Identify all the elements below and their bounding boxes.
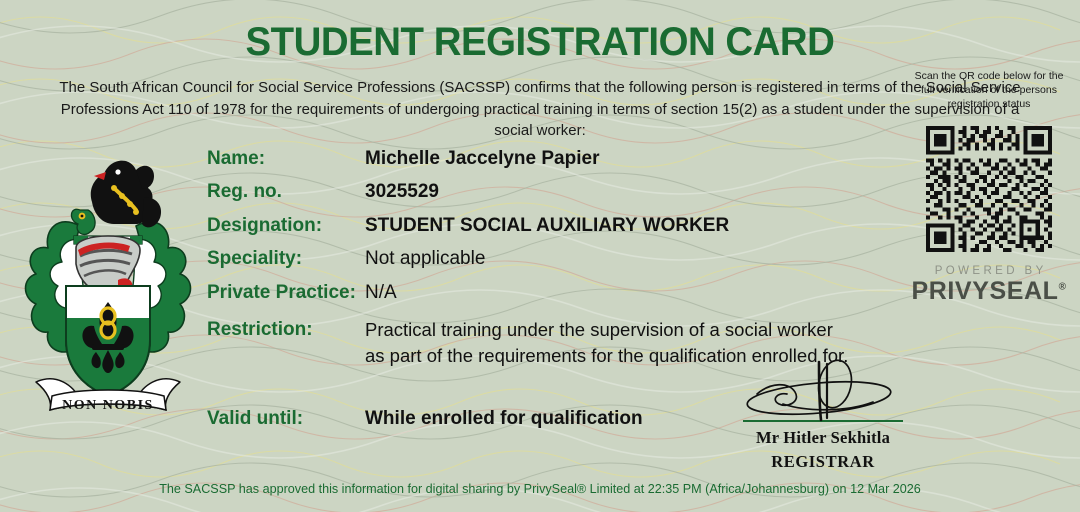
field-row-speciality: Speciality: Not applicable — [207, 246, 897, 271]
field-label-private-practice: Private Practice: — [207, 280, 365, 305]
field-label-name: Name: — [207, 146, 365, 171]
field-label-valid-until: Valid until: — [207, 406, 365, 431]
field-label-speciality: Speciality: — [207, 246, 365, 271]
registrar-name: Mr Hitler Sekhitla — [723, 428, 923, 448]
field-row-reg-no: Reg. no. 3025529 — [207, 179, 897, 204]
field-value-designation: STUDENT SOCIAL AUXILIARY WORKER — [365, 213, 729, 238]
field-row-designation: Designation: STUDENT SOCIAL AUXILIARY WO… — [207, 213, 897, 238]
document-description: The South African Council for Social Ser… — [42, 77, 1039, 142]
field-value-reg-no: 3025529 — [365, 179, 439, 204]
field-value-speciality: Not applicable — [365, 246, 485, 271]
field-value-name: Michelle Jaccelyne Papier — [365, 146, 599, 171]
field-label-restriction: Restriction: — [207, 317, 365, 342]
handwritten-signature — [723, 358, 923, 420]
crest-motto: NON NOBIS — [62, 398, 154, 413]
registration-card: STUDENT REGISTRATION CARD The South Afri… — [0, 0, 1080, 512]
field-value-private-practice: N/A — [365, 280, 397, 305]
registrar-role: REGISTRAR — [723, 452, 923, 472]
field-value-valid-until: While enrolled for qualification — [365, 406, 643, 431]
field-row-name: Name: Michelle Jaccelyne Papier — [207, 146, 897, 171]
signature-block: Mr Hitler Sekhitla REGISTRAR — [723, 358, 923, 472]
sacssp-coat-of-arms: NON NOBIS — [18, 144, 198, 416]
field-label-designation: Designation: — [207, 213, 365, 238]
approval-footer: The SACSSP has approved this information… — [0, 482, 1080, 496]
page-title: STUDENT REGISTRATION CARD — [22, 20, 1059, 64]
field-label-reg-no: Reg. no. — [207, 179, 365, 204]
field-row-private-practice: Private Practice: N/A — [207, 280, 897, 305]
